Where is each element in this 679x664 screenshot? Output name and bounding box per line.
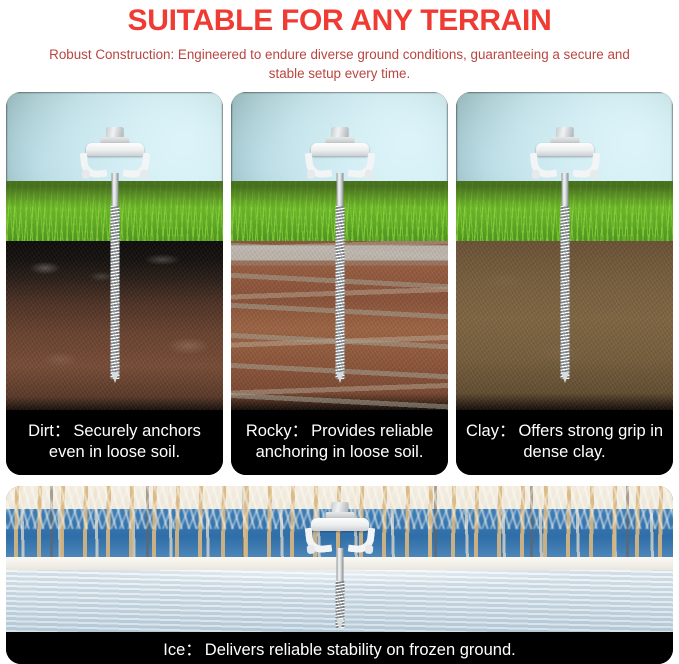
page-title: SUITABLE FOR ANY TERRAIN — [14, 4, 665, 38]
caption-description-ice: Delivers reliable stability on frozen gr… — [205, 641, 516, 659]
anchor-hook-right — [347, 525, 375, 553]
anchor-hook-left — [304, 525, 332, 553]
anchor-shaft-threaded — [110, 206, 119, 379]
caption-text-rocky: Rocky：Provides reliable anchoring in loo… — [238, 421, 441, 463]
anchor-hook-right — [122, 150, 150, 178]
anchor-head — [528, 127, 602, 177]
caption-term-rocky: Rocky — [246, 422, 292, 440]
ice-panel-row: Ice：Delivers reliable stability on froze… — [0, 486, 679, 664]
caption-separator-clay: ： — [499, 422, 519, 440]
anchor-tip — [336, 619, 344, 630]
terrain-panel-dirt[interactable]: Dirt：Securely anchors even in loose soil… — [6, 92, 223, 475]
ground-anchor-stake — [78, 127, 152, 410]
terrain-photo-ice — [6, 486, 673, 632]
caption-separator-ice: ： — [185, 641, 205, 659]
header: SUITABLE FOR ANY TERRAIN Robust Construc… — [0, 0, 679, 83]
caption-separator-dirt: ： — [54, 422, 74, 440]
terrain-photo-dirt — [6, 92, 223, 410]
caption-clay: Clay：Offers strong grip in dense clay. — [456, 410, 673, 475]
terrain-panel-rocky[interactable]: Rocky：Provides reliable anchoring in loo… — [231, 92, 448, 475]
caption-dirt: Dirt：Securely anchors even in loose soil… — [6, 410, 223, 475]
terrain-panel-row: Dirt：Securely anchors even in loose soil… — [0, 92, 679, 475]
anchor-tip — [111, 372, 119, 383]
terrain-infographic: SUITABLE FOR ANY TERRAIN Robust Construc… — [0, 0, 679, 659]
anchor-head — [303, 127, 377, 177]
caption-term-clay: Clay — [466, 422, 499, 440]
caption-term-dirt: Dirt — [28, 422, 54, 440]
terrain-photo-clay — [456, 92, 673, 410]
ground-anchor-stake — [528, 127, 602, 410]
anchor-tip — [561, 372, 569, 383]
caption-text-clay: Clay：Offers strong grip in dense clay. — [463, 421, 666, 463]
ground-anchor-stake — [303, 127, 377, 410]
anchor-head — [303, 502, 377, 552]
ground-anchor-stake — [303, 502, 377, 630]
caption-term-ice: Ice — [163, 641, 185, 659]
anchor-hook-left — [529, 150, 557, 178]
caption-text-ice: Ice：Delivers reliable stability on froze… — [163, 636, 515, 660]
anchor-tip — [336, 372, 344, 383]
caption-separator-rocky: ： — [292, 422, 312, 440]
caption-description-clay: Offers strong grip in dense clay. — [518, 422, 663, 461]
anchor-shaft-smooth — [111, 173, 118, 207]
anchor-shaft-smooth — [561, 173, 568, 207]
anchor-shaft-threaded — [560, 206, 569, 379]
terrain-panel-ice[interactable]: Ice：Delivers reliable stability on froze… — [6, 486, 673, 664]
anchor-shaft-smooth — [336, 548, 343, 582]
terrain-panel-clay[interactable]: Clay：Offers strong grip in dense clay. — [456, 92, 673, 475]
page-subtitle: Robust Construction: Engineered to endur… — [14, 45, 665, 83]
anchor-hook-left — [304, 150, 332, 178]
anchor-hook-right — [347, 150, 375, 178]
anchor-hook-left — [79, 150, 107, 178]
anchor-shaft-smooth — [336, 173, 343, 207]
caption-rocky: Rocky：Provides reliable anchoring in loo… — [231, 410, 448, 475]
caption-text-dirt: Dirt：Securely anchors even in loose soil… — [13, 421, 216, 463]
anchor-shaft-threaded — [335, 206, 344, 379]
anchor-head — [78, 127, 152, 177]
anchor-hook-right — [572, 150, 600, 178]
terrain-photo-rocky — [231, 92, 448, 410]
